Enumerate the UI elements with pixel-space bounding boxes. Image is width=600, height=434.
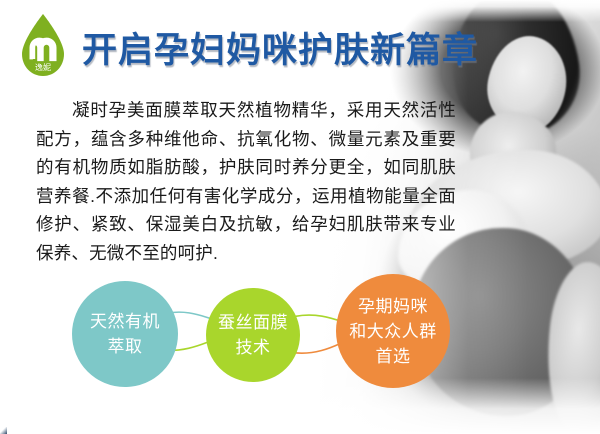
feature-circle-silk-mask-technology[interactable]: 蚕丝面膜 技术	[206, 288, 300, 382]
feature-label: 孕期妈咪 和大众人群 首选	[343, 294, 443, 369]
page-title: 开启孕妇妈咪护肤新篇章	[82, 30, 478, 72]
promo-banner: 逸妮 开启孕妇妈咪护肤新篇章 凝时孕美面膜萃取天然植物精华，采用天然活性配方，蕴…	[0, 0, 600, 434]
corner-mark	[0, 427, 7, 434]
photo-top-fade	[0, 0, 600, 22]
feature-circle-pregnancy-mom-first-choice[interactable]: 孕期妈咪 和大众人群 首选	[336, 274, 450, 388]
product-description: 凝时孕美面膜萃取天然植物精华，采用天然活性配方，蕴含多种维他命、抗氧化物、微量元…	[36, 96, 456, 267]
feature-circle-natural-organic-extract[interactable]: 天然有机 萃取	[72, 281, 178, 387]
droplet-icon: 逸妮	[22, 14, 64, 76]
feature-label: 天然有机 萃取	[84, 309, 166, 359]
logo-subtext: 逸妮	[35, 62, 51, 72]
feature-label: 蚕丝面膜 技术	[212, 310, 294, 360]
brand-logo: 逸妮	[18, 12, 68, 80]
